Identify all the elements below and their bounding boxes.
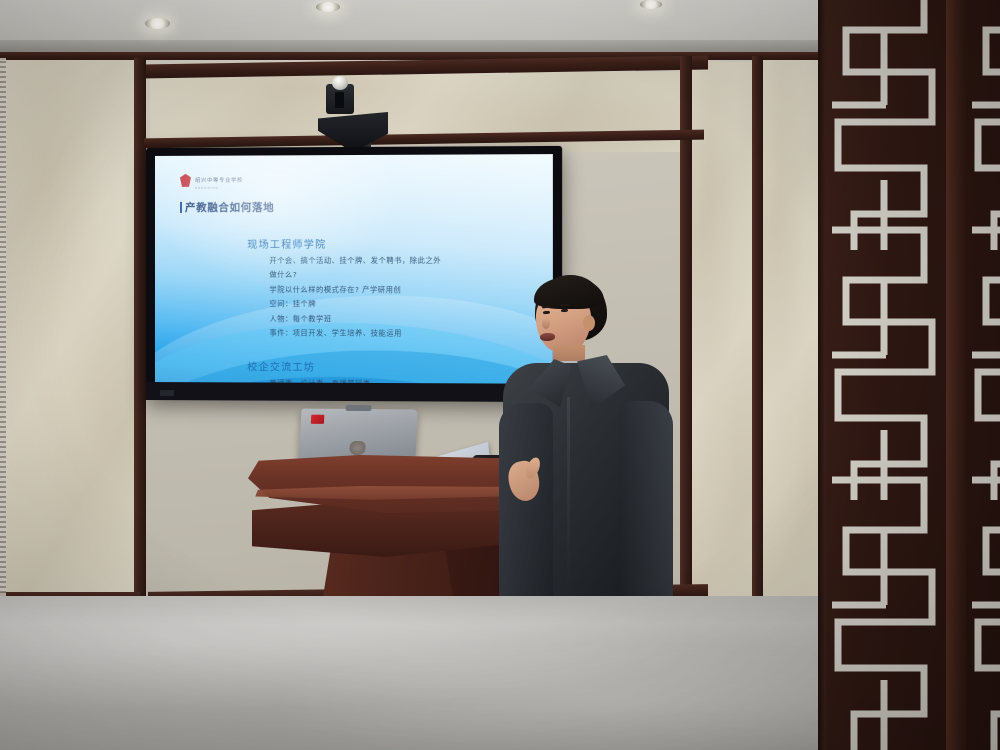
school-crest-icon <box>180 174 191 187</box>
nose <box>542 318 550 329</box>
slide-title: 产教融合如何落地 <box>180 200 274 215</box>
lattice-pattern-icon <box>968 0 1000 750</box>
slide-logo-text: 绍兴中等专业学校 <box>195 177 243 184</box>
laptop-sticker-icon <box>311 415 325 424</box>
lattice-screen-panel <box>818 0 1000 750</box>
lattice-divider <box>946 0 966 750</box>
wall-grille <box>0 58 6 598</box>
laptop-logo-icon <box>349 441 366 455</box>
camera-icon <box>332 76 348 90</box>
display-screen[interactable]: 绍兴中等专业学校 SHAOXING 产教融合如何落地 现场工程师学院 开个会、搞… <box>155 154 553 384</box>
slide-title-text: 产教融合如何落地 <box>185 200 274 215</box>
display-brand-badge <box>160 390 174 396</box>
title-accent-bar <box>180 202 182 213</box>
ear <box>583 315 595 331</box>
downlight-icon <box>316 2 340 12</box>
podium-top-surface <box>248 455 513 513</box>
downlight-icon <box>145 18 170 29</box>
slide-logo-subtext: SHAOXING <box>195 186 219 190</box>
presentation-slide: 绍兴中等专业学校 SHAOXING 产教融合如何落地 现场工程师学院 开个会、搞… <box>155 154 553 384</box>
camera-lens-slot <box>335 92 344 108</box>
conference-room-photo: 绍兴中等专业学校 SHAOXING 产教融合如何落地 现场工程师学院 开个会、搞… <box>0 0 1000 750</box>
section-line: 开个会、搞个活动、挂个牌、发个聘书，除此之外 <box>269 256 538 266</box>
marble-panel <box>6 60 134 600</box>
marble-panel <box>762 60 820 680</box>
downlight-icon <box>640 0 662 9</box>
lattice-column <box>968 0 1000 750</box>
lattice-column <box>824 0 944 750</box>
wood-trim-vertical <box>134 58 146 668</box>
marble-panel <box>690 62 752 674</box>
laptop-hinge <box>346 405 372 411</box>
lattice-pattern-icon <box>824 0 944 750</box>
wood-trim-vertical <box>752 56 763 680</box>
section-heading: 现场工程师学院 <box>247 235 538 251</box>
wood-trim-vertical <box>680 56 692 676</box>
